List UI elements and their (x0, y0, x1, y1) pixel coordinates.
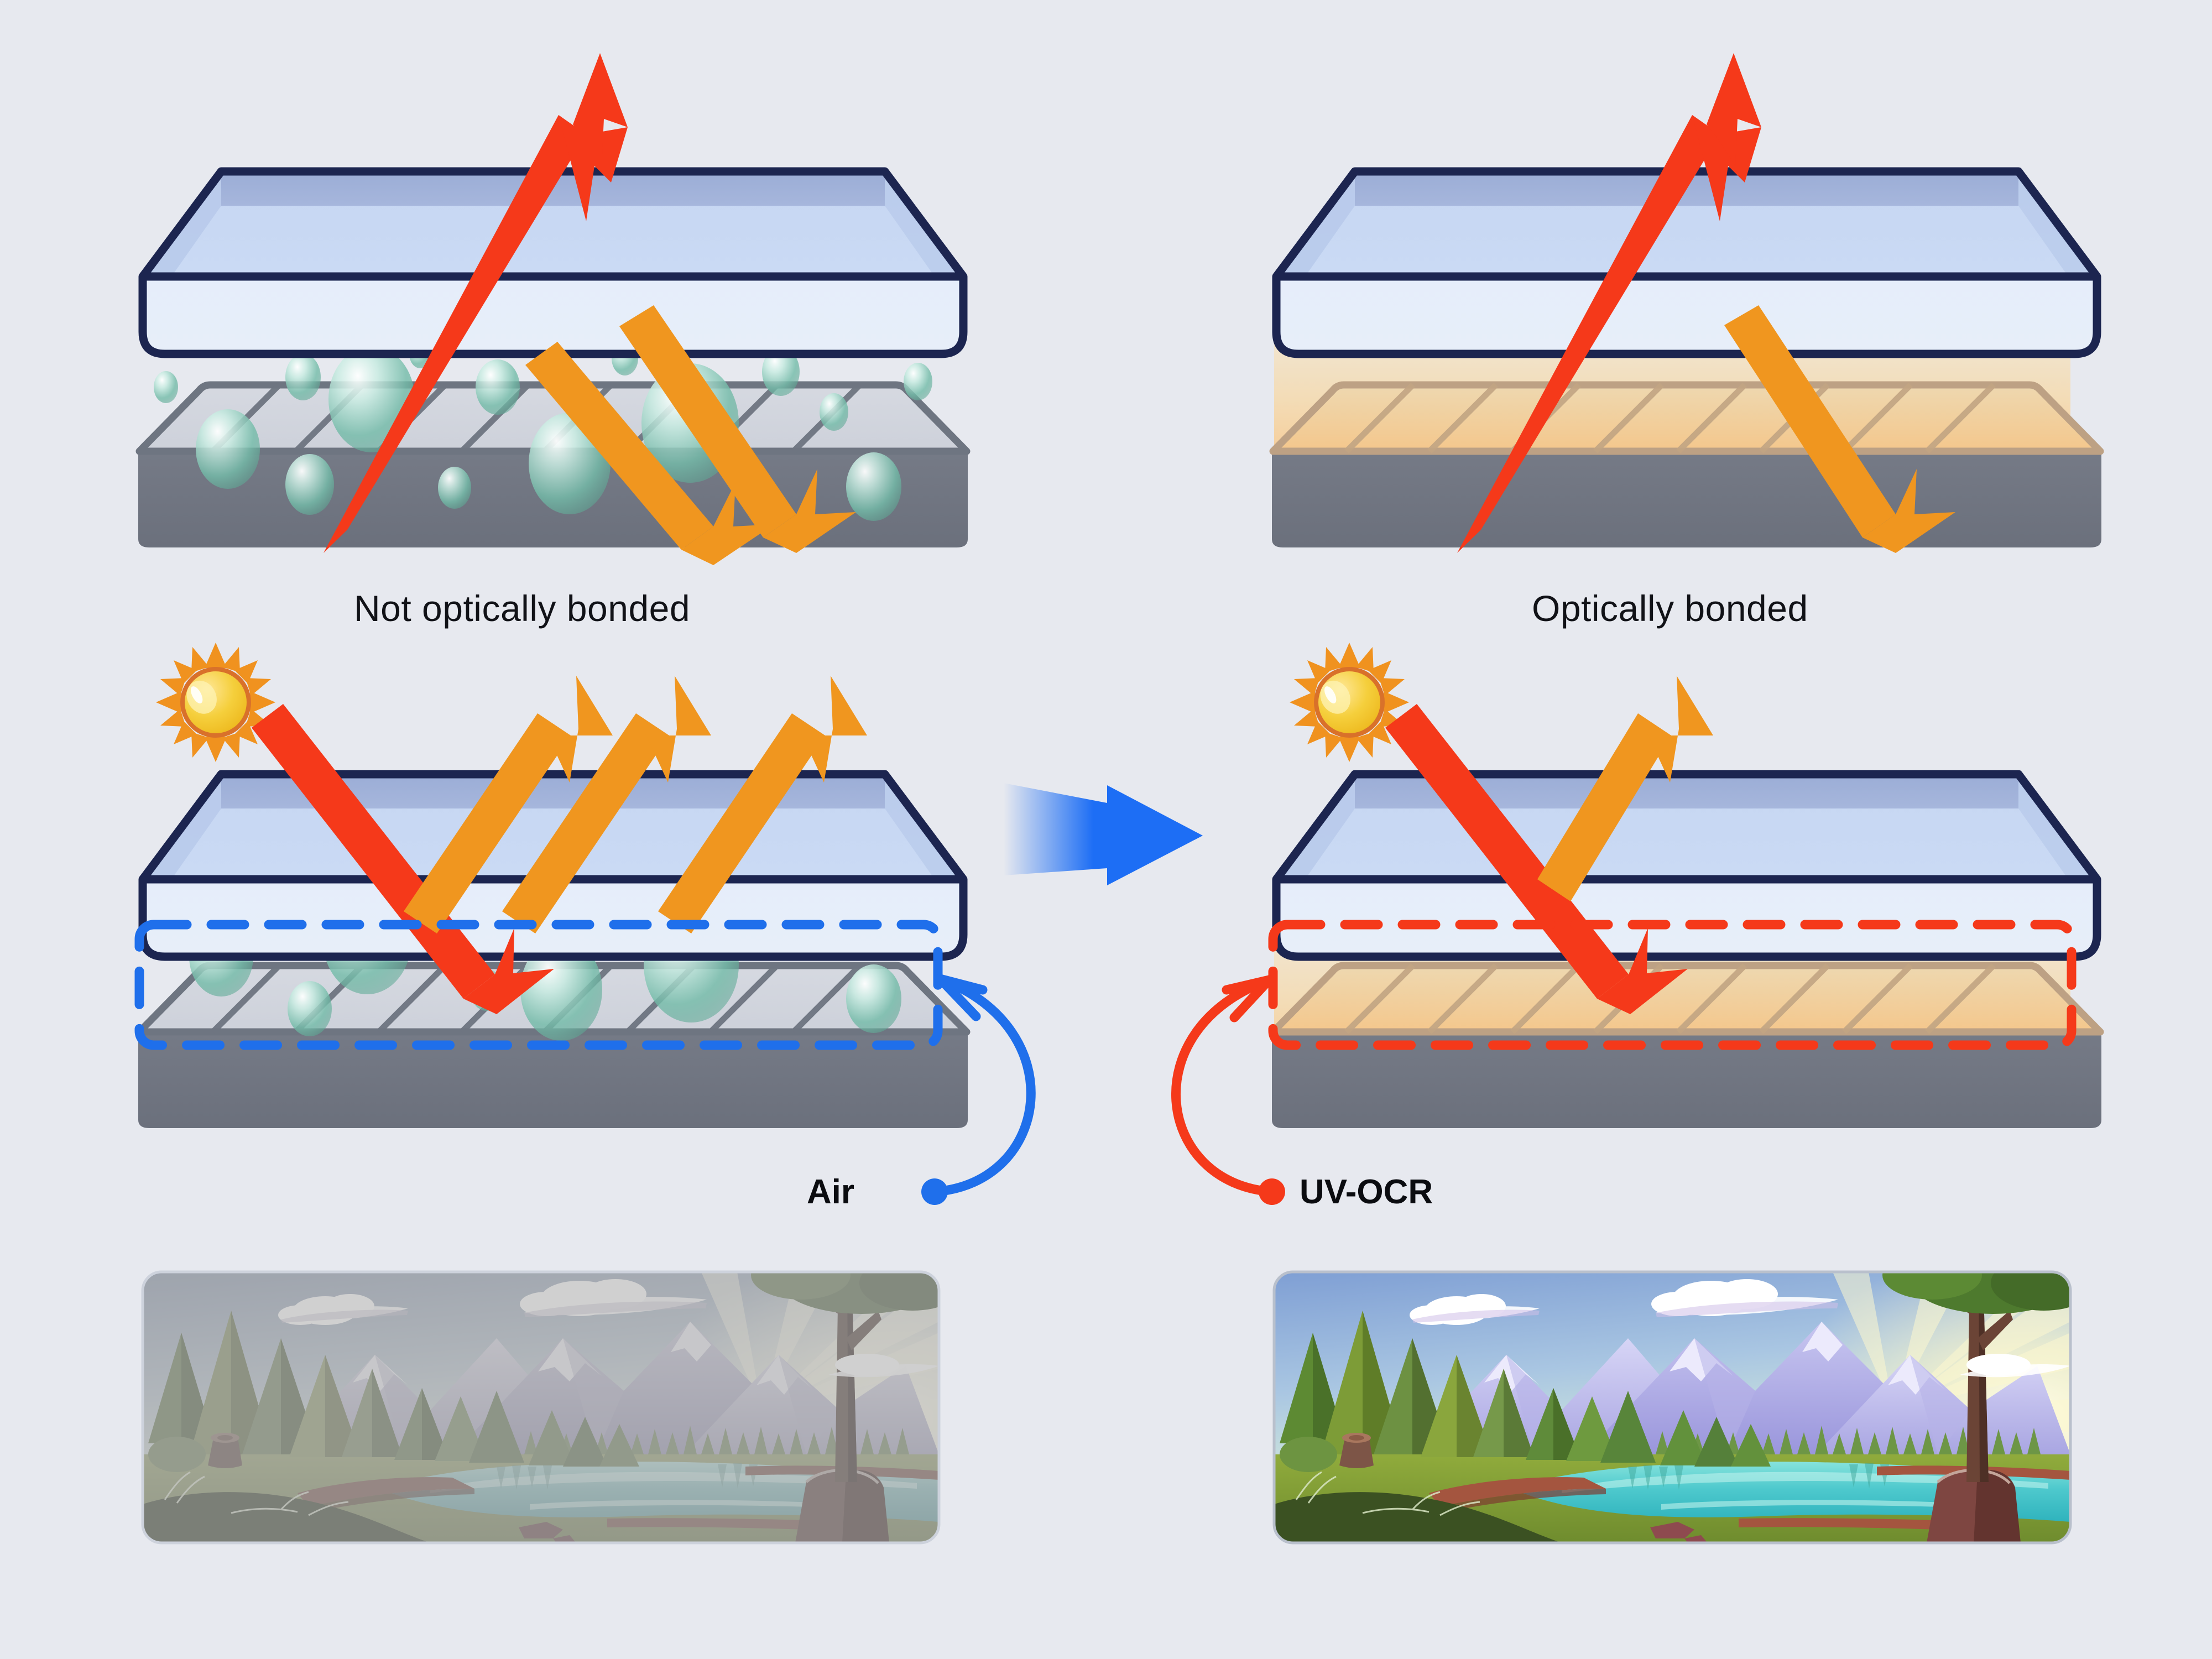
bottom-left-landscape (143, 1244, 1000, 1576)
landscape-layer (0, 0, 2212, 1659)
diagram-canvas: Not optically bonded Optically bonded (0, 0, 2212, 1659)
bottom-right-landscape (1274, 1244, 2131, 1576)
